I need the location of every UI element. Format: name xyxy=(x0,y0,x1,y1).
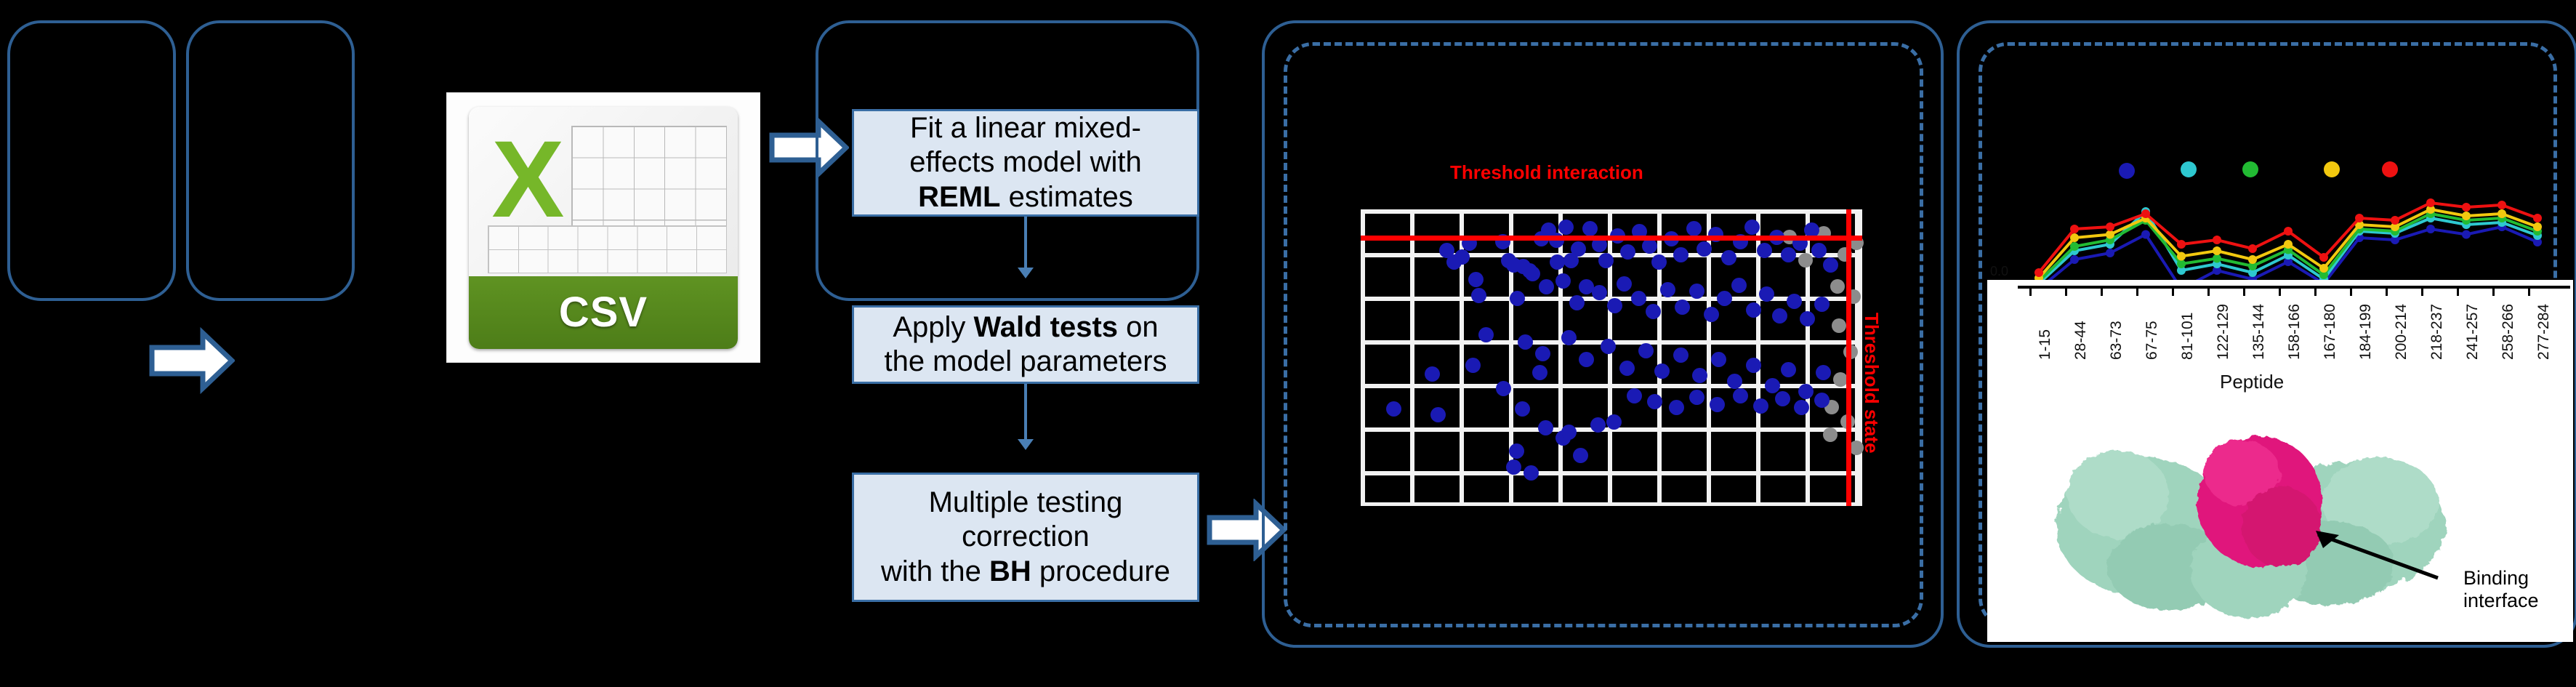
volcano-point-grey xyxy=(1832,318,1846,333)
peptide-tick-label: 200-214 xyxy=(2393,304,2410,360)
volcano-point-blue xyxy=(1651,254,1667,270)
volcano-point-blue xyxy=(1535,346,1550,361)
peptide-tick-mark xyxy=(2243,286,2245,296)
peptide-tick-mark xyxy=(2065,286,2067,296)
volcano-point-blue xyxy=(1430,407,1446,422)
csv-file-icon: X CSV xyxy=(447,93,760,362)
volcano-point-blue xyxy=(1689,390,1704,405)
volcano-point-blue xyxy=(1638,343,1654,358)
peptide-series-point xyxy=(2426,225,2435,233)
peptide-series-point xyxy=(2284,240,2293,249)
peptide-tick-label: 218-237 xyxy=(2428,304,2446,360)
volcano-point-blue xyxy=(1686,221,1702,236)
volcano-point-blue xyxy=(1814,393,1830,408)
volcano-point-blue xyxy=(1731,278,1747,293)
peptide-series-point xyxy=(2284,227,2293,236)
peptide-series-point xyxy=(2177,252,2186,261)
volcano-point-blue xyxy=(1454,249,1470,265)
peptide-tick-mark xyxy=(2136,286,2138,296)
volcano-point-blue xyxy=(1561,425,1577,440)
volcano-point-blue xyxy=(1757,243,1772,258)
legend-dot-yellow xyxy=(2324,161,2340,177)
volcano-point-blue xyxy=(1592,285,1607,300)
volcano-point-blue xyxy=(1654,363,1670,379)
peptide-tick-label: 258-266 xyxy=(2500,304,2517,360)
peptide-series-point xyxy=(2106,249,2114,257)
volcano-point-blue xyxy=(1814,297,1830,312)
volcano-point-blue xyxy=(1733,388,1748,403)
peptide-series-point xyxy=(2070,255,2079,264)
volcano-point-blue xyxy=(1558,220,1574,235)
peptide-tick-mark xyxy=(2207,286,2210,296)
volcano-point-blue xyxy=(1781,362,1796,377)
volcano-point-grey xyxy=(1823,427,1838,442)
volcano-point-blue xyxy=(1606,414,1622,430)
volcano-point-blue xyxy=(1798,384,1814,399)
volcano-point-blue xyxy=(1510,291,1525,306)
peptide-series-point xyxy=(2426,198,2435,207)
volcano-point-blue xyxy=(1590,417,1606,433)
peptide-tick-label: 1-15 xyxy=(2037,329,2054,360)
volcano-point-blue xyxy=(1478,327,1494,342)
threshold-interaction-line xyxy=(1361,236,1862,241)
peptide-series-point xyxy=(2319,253,2328,262)
peptide-line-chart xyxy=(1992,131,2566,298)
volcano-point-blue xyxy=(1471,288,1486,303)
volcano-point-blue xyxy=(1425,366,1440,382)
peptide-series-point xyxy=(2213,236,2221,244)
volcano-point-grey xyxy=(1833,372,1848,387)
volcano-point-blue xyxy=(1538,420,1553,435)
volcano-point-blue xyxy=(1660,282,1675,297)
peptide-tick-mark xyxy=(2314,286,2317,296)
volcano-point-blue xyxy=(1532,365,1547,380)
peptide-tick-label: 241-257 xyxy=(2464,304,2482,360)
peptide-series-point xyxy=(2462,203,2471,212)
peptide-series-point xyxy=(2106,230,2114,239)
volcano-point-blue xyxy=(1561,330,1577,345)
peptide-tick-label: 63-73 xyxy=(2108,321,2125,360)
peptide-tick-mark xyxy=(2172,286,2174,296)
peptide-series-point xyxy=(2213,254,2221,263)
volcano-point-blue xyxy=(1772,308,1787,324)
peptide-series-point xyxy=(2248,244,2257,253)
volcano-point-blue xyxy=(1598,253,1614,268)
fit-model-box[interactable]: Fit a linear mixed-effects model withREM… xyxy=(852,109,1199,217)
volcano-point-blue xyxy=(1704,307,1719,322)
volcano-point-blue xyxy=(1465,358,1481,373)
volcano-point-blue xyxy=(1646,304,1661,319)
peptide-series-point xyxy=(2213,246,2221,255)
volcano-point-blue xyxy=(1689,284,1704,299)
peptide-tick-mark xyxy=(2386,286,2388,296)
volcano-point-blue xyxy=(1823,257,1838,273)
volcano-point-blue xyxy=(1601,339,1616,354)
volcano-point-blue xyxy=(1631,291,1646,306)
volcano-point-blue xyxy=(1518,334,1533,350)
binding-interface-annotation: Binding interface xyxy=(2463,567,2539,612)
volcano-point-blue xyxy=(1744,220,1760,235)
peptide-series-point xyxy=(2497,209,2506,218)
arrow-input-to-csv xyxy=(149,327,235,394)
volcano-point-blue xyxy=(1607,298,1622,313)
volcano-point-blue xyxy=(1506,459,1521,475)
volcano-point-grey xyxy=(1830,279,1845,294)
peptide-series-point xyxy=(2391,216,2399,225)
peptide-tick-mark xyxy=(2492,286,2495,296)
figure-canvas: X CSV Fit a linear mixed-effects model w… xyxy=(0,0,2576,687)
volcano-point-blue xyxy=(1746,358,1761,373)
volcano-point-blue xyxy=(1800,311,1815,326)
volcano-point-blue xyxy=(1765,378,1780,393)
peptide-tick-label: 81-101 xyxy=(2179,313,2197,360)
csv-icon-body: X CSV xyxy=(469,107,738,349)
peptide-tick-label: 184-199 xyxy=(2357,304,2375,360)
volcano-point-blue xyxy=(1746,302,1761,318)
connector-fit-to-wald xyxy=(1024,217,1027,269)
binding-interface-line2: interface xyxy=(2463,590,2539,612)
peptide-series-point xyxy=(2462,230,2471,239)
peptide-series-point xyxy=(2106,222,2114,231)
volcano-point-blue xyxy=(1619,361,1635,376)
connector-arrowhead-bh xyxy=(1018,439,1034,450)
excel-x-icon: X xyxy=(480,116,576,242)
volcano-point-blue xyxy=(1775,391,1790,406)
legend-dot-red xyxy=(2382,161,2398,177)
peptide-series-point xyxy=(2177,260,2186,268)
volcano-point-blue xyxy=(1811,243,1827,258)
volcano-point-blue xyxy=(1515,401,1530,417)
peptide-tick-mark xyxy=(2457,286,2459,296)
volcano-point-blue xyxy=(1509,443,1524,459)
volcano-point-blue xyxy=(1642,238,1657,254)
volcano-point-blue xyxy=(1794,400,1809,415)
peptide-tick-mark xyxy=(2029,286,2032,296)
protein-chain-magenta xyxy=(2197,436,2322,567)
volcano-point-blue xyxy=(1781,247,1796,262)
volcano-point-blue xyxy=(1816,365,1831,380)
peptide-tick-label: 122-129 xyxy=(2215,304,2232,360)
volcano-point-blue xyxy=(1620,244,1635,260)
peptide-tick-mark xyxy=(2101,286,2103,296)
volcano-point-blue xyxy=(1727,374,1742,389)
peptide-tick-mark xyxy=(2279,286,2281,296)
multiple-testing-box-text: Multiple testingcorrectionwith the BH pr… xyxy=(877,486,1175,589)
volcano-point-blue xyxy=(1673,347,1689,363)
peptide-series-point xyxy=(2177,240,2186,249)
volcano-point-blue xyxy=(1759,286,1774,302)
volcano-point-blue xyxy=(1524,465,1539,481)
panel-csv xyxy=(186,20,355,301)
peptide-tick-label: 135-144 xyxy=(2250,304,2268,360)
panel-input xyxy=(7,20,176,301)
peptide-tick-mark xyxy=(2421,286,2423,296)
volcano-point-blue xyxy=(1721,250,1736,265)
csv-icon-label: CSV xyxy=(469,276,738,349)
volcano-point-blue xyxy=(1579,352,1594,367)
threshold-interaction-label: Threshold interaction xyxy=(1450,161,1643,184)
volcano-point-blue xyxy=(1675,300,1690,315)
volcano-point-blue xyxy=(1627,388,1642,403)
threshold-state-line xyxy=(1846,209,1851,506)
peptide-series-point xyxy=(2497,201,2506,209)
peptide-axis-title: Peptide xyxy=(2220,371,2284,393)
peptide-series-point xyxy=(2462,212,2471,220)
peptide-series-point xyxy=(2355,214,2364,222)
legend-dot-cyan xyxy=(2181,161,2197,177)
volcano-point-blue xyxy=(1753,398,1768,414)
peptide-series-point xyxy=(2319,264,2328,273)
peptide-tick-mark xyxy=(2350,286,2352,296)
volcano-point-grey xyxy=(1798,253,1813,268)
legend-dot-green xyxy=(2242,161,2258,177)
multiple-testing-box[interactable]: Multiple testingcorrectionwith the BH pr… xyxy=(852,473,1199,602)
connector-arrowhead-wald xyxy=(1018,268,1034,278)
volcano-point-blue xyxy=(1673,247,1689,262)
volcano-point-blue xyxy=(1506,257,1521,273)
peptide-tick-mark xyxy=(2528,286,2530,296)
peptide-tick-label: 167-180 xyxy=(2322,304,2339,360)
volcano-point-blue xyxy=(1669,400,1684,415)
volcano-point-blue xyxy=(1710,397,1725,412)
peptide-tick-label: 67-75 xyxy=(2144,321,2161,360)
fit-model-box-text: Fit a linear mixed-effects model withREM… xyxy=(905,111,1146,214)
peptide-axis-card: 0.0 1-1528-4463-7367-7581-101122-129135-… xyxy=(1987,280,2573,642)
peptide-series-point xyxy=(2070,242,2079,251)
peptide-series-point xyxy=(2070,225,2079,233)
wald-test-box-text: Apply Wald tests onthe model parameters xyxy=(880,310,1171,379)
peptide-series-point xyxy=(2533,214,2542,222)
peptide-chart-svg xyxy=(1992,131,2566,298)
peptide-series-point xyxy=(2533,222,2542,231)
peptide-tick-label: 277-284 xyxy=(2535,304,2553,360)
peptide-series-point xyxy=(2141,230,2150,239)
connector-wald-to-bh xyxy=(1024,384,1027,441)
volcano-point-blue xyxy=(1569,295,1585,310)
wald-test-box[interactable]: Apply Wald tests onthe model parameters xyxy=(852,305,1199,384)
volcano-point-blue xyxy=(1555,273,1571,289)
volcano-point-blue xyxy=(1696,241,1712,257)
volcano-point-blue xyxy=(1711,352,1726,367)
peptide-tick-label: 158-166 xyxy=(2286,304,2303,360)
volcano-point-blue xyxy=(1468,272,1484,287)
peptide-series-point xyxy=(2141,209,2150,218)
peptide-tick-label: 28-44 xyxy=(2072,321,2090,360)
volcano-point-blue xyxy=(1571,241,1586,257)
volcano-point-blue xyxy=(1617,276,1632,292)
volcano-point-blue xyxy=(1539,279,1554,294)
threshold-state-label: Threshold state xyxy=(1860,313,1883,454)
volcano-point-blue xyxy=(1550,254,1565,270)
binding-interface-line1: Binding xyxy=(2463,567,2539,590)
y-axis-first-tick-label: 0.0 xyxy=(1990,264,2008,279)
volcano-point-blue xyxy=(1496,381,1511,396)
volcano-point-blue xyxy=(1787,294,1802,309)
volcano-point-blue xyxy=(1647,394,1662,409)
legend-dot-blue xyxy=(2119,163,2135,179)
volcano-point-blue xyxy=(1386,401,1401,417)
peptide-series-point xyxy=(2248,255,2257,264)
peptide-series-point xyxy=(2034,268,2043,277)
volcano-point-blue xyxy=(1692,368,1707,383)
volcano-point-blue xyxy=(1582,221,1598,236)
volcano-point-blue xyxy=(1573,448,1588,463)
volcano-plot xyxy=(1361,209,1862,506)
volcano-point-blue xyxy=(1525,266,1540,281)
volcano-point-blue xyxy=(1717,291,1732,306)
